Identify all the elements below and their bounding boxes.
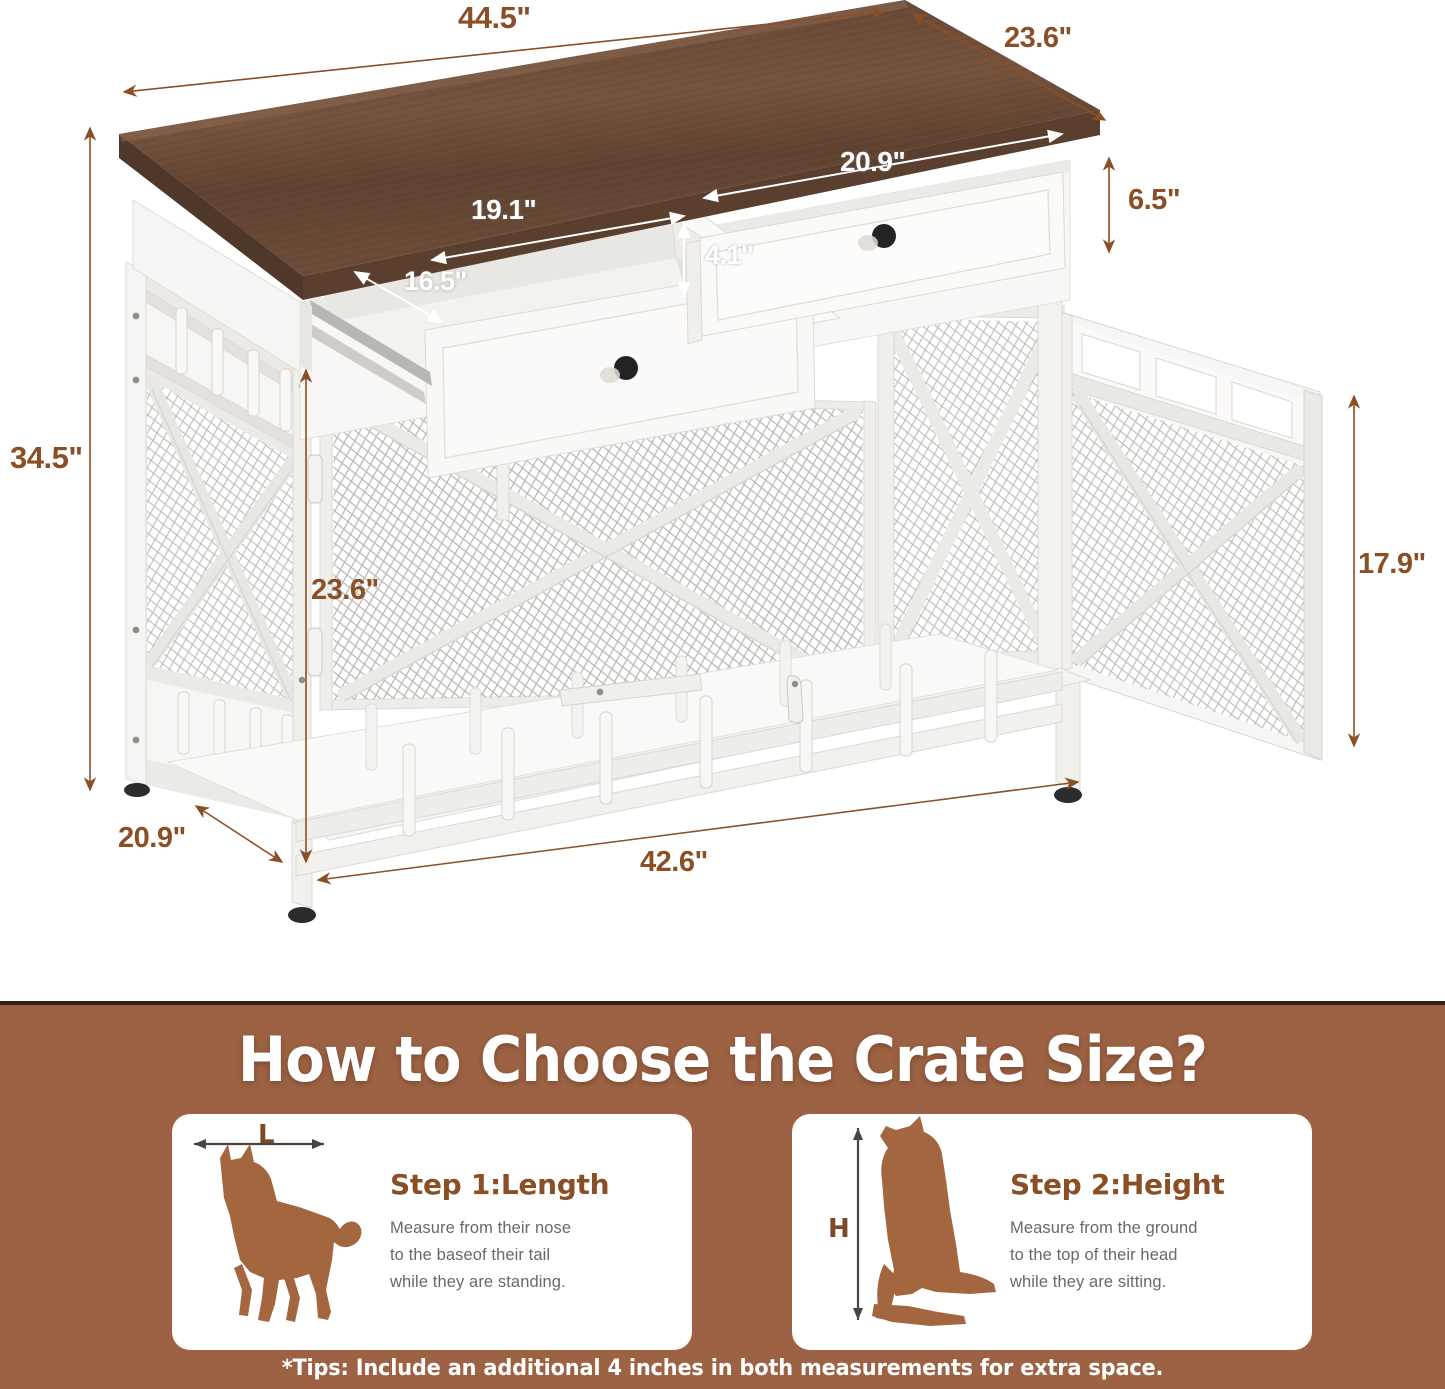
step-2-line-2: to the top of their head [1010,1242,1296,1269]
sitting-dog-silhouette [792,1114,1010,1350]
tips-note: *Tips: Include an additional 4 inches in… [36,1356,1409,1381]
open-right-door [1055,310,1322,760]
dim-label-20-9-drawer: 20.9" [840,146,905,178]
step-card-height: Step 2:Height Measure from the ground to… [792,1114,1312,1350]
sitting-dog-figure [792,1114,1010,1350]
step-2-text: Step 2:Height Measure from the ground to… [1010,1168,1312,1295]
step-1-line-3: while they are standing. [390,1269,676,1296]
standing-dog-figure [172,1114,390,1350]
standing-dog-silhouette [172,1114,390,1350]
dim-label-23-6-front: 23.6" [311,574,379,607]
dim-label-42-6: 42.6" [640,846,708,879]
crate-size-guide-banner: How to Choose the Crate Size? Step 1:Len… [0,1001,1445,1389]
product-dimension-diagram: 44.5" 23.6" 20.9" 19.1" 16.5" 4.1" 6.5" … [0,0,1445,1001]
dim-label-6-5: 6.5" [1128,184,1180,217]
dim-label-4-1: 4.1" [705,240,753,271]
dim-label-19-1: 19.1" [471,194,536,226]
banner-title: How to Choose the Crate Size? [51,1023,1395,1096]
dim-label-17-9: 17.9" [1358,548,1426,581]
height-letter: H [828,1214,850,1244]
dimline-20-9-base [196,806,282,862]
step-card-length: Step 1:Length Measure from their nose to… [172,1114,692,1350]
dim-label-23-6-top: 23.6" [1004,22,1072,55]
step-1-line-1: Measure from their nose [390,1215,676,1242]
height-arrow [853,1128,863,1320]
step-1-title: Step 1:Length [390,1168,676,1201]
length-letter: L [258,1120,275,1150]
step-2-title: Step 2:Height [1010,1168,1296,1201]
crate-illustration [0,0,1445,1001]
door-latch [787,676,803,723]
step-2-line-3: while they are sitting. [1010,1269,1296,1296]
step-2-line-1: Measure from the ground [1010,1215,1296,1242]
dim-label-20-9-base: 20.9" [118,822,186,855]
step-1-text: Step 1:Length Measure from their nose to… [390,1168,692,1295]
dim-label-34-5: 34.5" [10,440,83,476]
dim-label-16-5: 16.5" [404,266,467,297]
dim-label-44-5: 44.5" [458,0,531,36]
step-1-line-2: to the baseof their tail [390,1242,676,1269]
